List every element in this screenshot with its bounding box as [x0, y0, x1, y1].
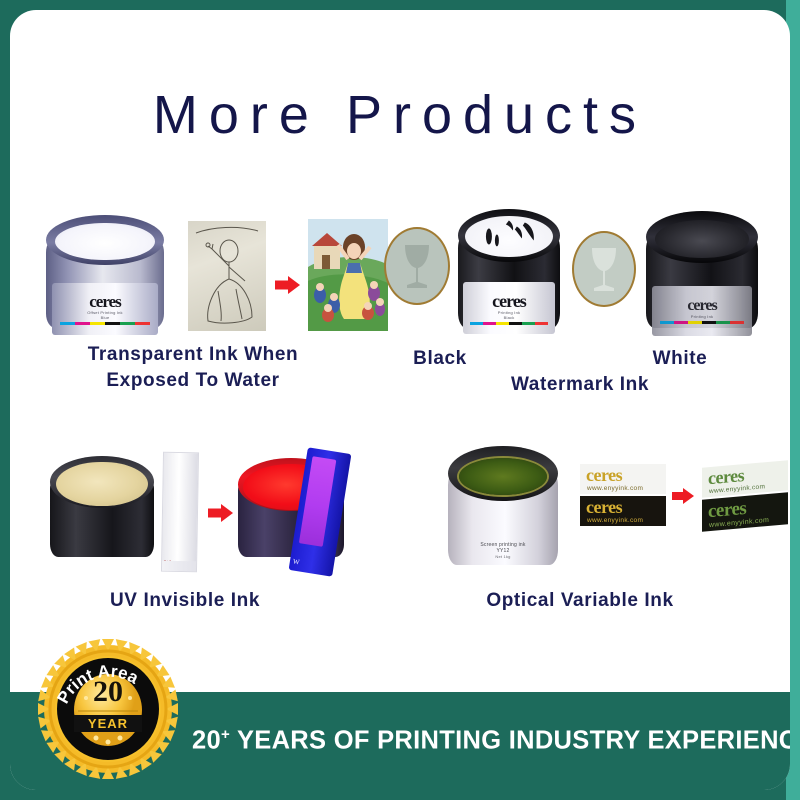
product-optical-variable-ink: Screen printing ink YY12 Net 1kg ceres w…: [440, 442, 770, 582]
bucket-sub-text: Printing Ink: [691, 314, 713, 319]
bucket-brand-text: ceres: [89, 293, 121, 310]
product-white-watermark-ink: ceres Printing Ink: [570, 205, 765, 345]
wine-glass-icon: [397, 240, 437, 292]
bucket-ink-surface: [459, 458, 547, 495]
cmyk-strip: [660, 321, 745, 324]
product-black-watermark-ink: ceres Printing Ink Black: [380, 205, 565, 345]
bucket-variant-text: Black: [504, 315, 515, 320]
sample-card-green-light: ceres www.enyyink.com: [702, 460, 788, 498]
bucket-ink-surface: [55, 223, 154, 261]
bucket-brand-text: ceres: [687, 298, 716, 314]
experience-years-number: 20: [192, 727, 221, 755]
badge-year-band: YEAR: [74, 715, 141, 732]
poster-root: More Products ceres Offset Printing Ink …: [0, 0, 800, 800]
caption-optical-variable-ink: Optical Variable Ink: [410, 588, 750, 614]
bucket-weight-text: Net 1kg: [495, 554, 510, 559]
sample-url-text: www.enyyink.com: [587, 485, 643, 492]
bucket-brand-text: ceres: [492, 292, 526, 310]
caption-uv-invisible-ink: UV Invisible Ink: [40, 588, 330, 614]
sample-card-gold-light: ceres www.enyyink.com: [580, 464, 666, 494]
ink-bucket-white: ceres Printing Ink: [646, 211, 758, 341]
experience-plus-sign: +: [221, 726, 230, 743]
badge-year-label: YEAR: [88, 716, 128, 731]
bucket-label: ceres Printing Ink: [652, 286, 753, 335]
sample-brand-text: ceres: [586, 465, 622, 486]
caption-watermark-ink-group: Watermark Ink: [430, 372, 730, 398]
product-uv-invisible-ink: W W: [40, 442, 370, 582]
watermark-sample-white: [572, 231, 636, 307]
sample-before-line-drawing: [188, 221, 266, 331]
poster-canvas: More Products ceres Offset Printing Ink …: [10, 10, 790, 790]
transform-arrow-icon: [275, 276, 301, 294]
sample-url-text: www.enyyink.com: [587, 517, 643, 524]
uv-transform-arrow-icon: [208, 504, 234, 522]
sample-card-green-dark: ceres www.enyyink.com: [702, 492, 788, 532]
ink-splash-icon: [465, 216, 553, 257]
badge-starburst-icon: Print Area: [38, 636, 178, 782]
badge-number: 20: [38, 677, 178, 707]
print-area-20-year-badge: Print Area 20 YEAR: [38, 636, 178, 782]
ink-bucket-transparent: ceres Offset Printing Ink Blue: [46, 215, 164, 340]
sample-brand-text: ceres: [586, 497, 622, 518]
optical-transform-arrow-icon: [672, 488, 698, 504]
sample-after-colour-illustration: [308, 219, 388, 331]
bucket-variant-text: Blue: [101, 315, 110, 320]
line-drawing-icon: [188, 221, 266, 331]
cmyk-strip: [470, 322, 547, 325]
product-transparent-ink: ceres Offset Printing Ink Blue: [38, 205, 348, 345]
cmyk-strip: [60, 322, 149, 325]
bucket-label: ceres Offset Printing Ink Blue: [52, 283, 158, 336]
ink-bucket-uv-normal: [50, 456, 154, 568]
bucket-label: Screen printing ink YY12 Net 1kg: [457, 531, 549, 571]
ink-bucket-optical-variable: Screen printing ink YY12 Net 1kg: [448, 446, 558, 578]
ink-bucket-black: ceres Printing Ink Black: [458, 209, 560, 341]
experience-banner-text: 20+ YEARS OF PRINTING INDUSTRY EXPERIENC…: [192, 726, 790, 756]
bucket-ink-surface: [56, 462, 148, 507]
page-title: More Products: [10, 84, 790, 146]
bucket-ink-surface: [465, 216, 553, 257]
uv-strip-normal: W: [161, 452, 199, 573]
bucket-ink-surface: [655, 220, 749, 258]
sample-card-gold-dark: ceres www.enyyink.com: [580, 496, 666, 526]
caption-black-watermark: Black: [380, 346, 500, 372]
experience-banner-label: YEARS OF PRINTING INDUSTRY EXPERIENCE: [237, 727, 790, 755]
colour-illustration-icon: [308, 219, 388, 331]
watermark-sample-black: [384, 227, 450, 305]
caption-white-watermark: White: [610, 346, 750, 372]
wine-glass-icon: [584, 243, 624, 295]
caption-transparent-ink: Transparent Ink When Exposed To Water: [28, 342, 358, 393]
bucket-label: ceres Printing Ink Black: [463, 282, 555, 335]
